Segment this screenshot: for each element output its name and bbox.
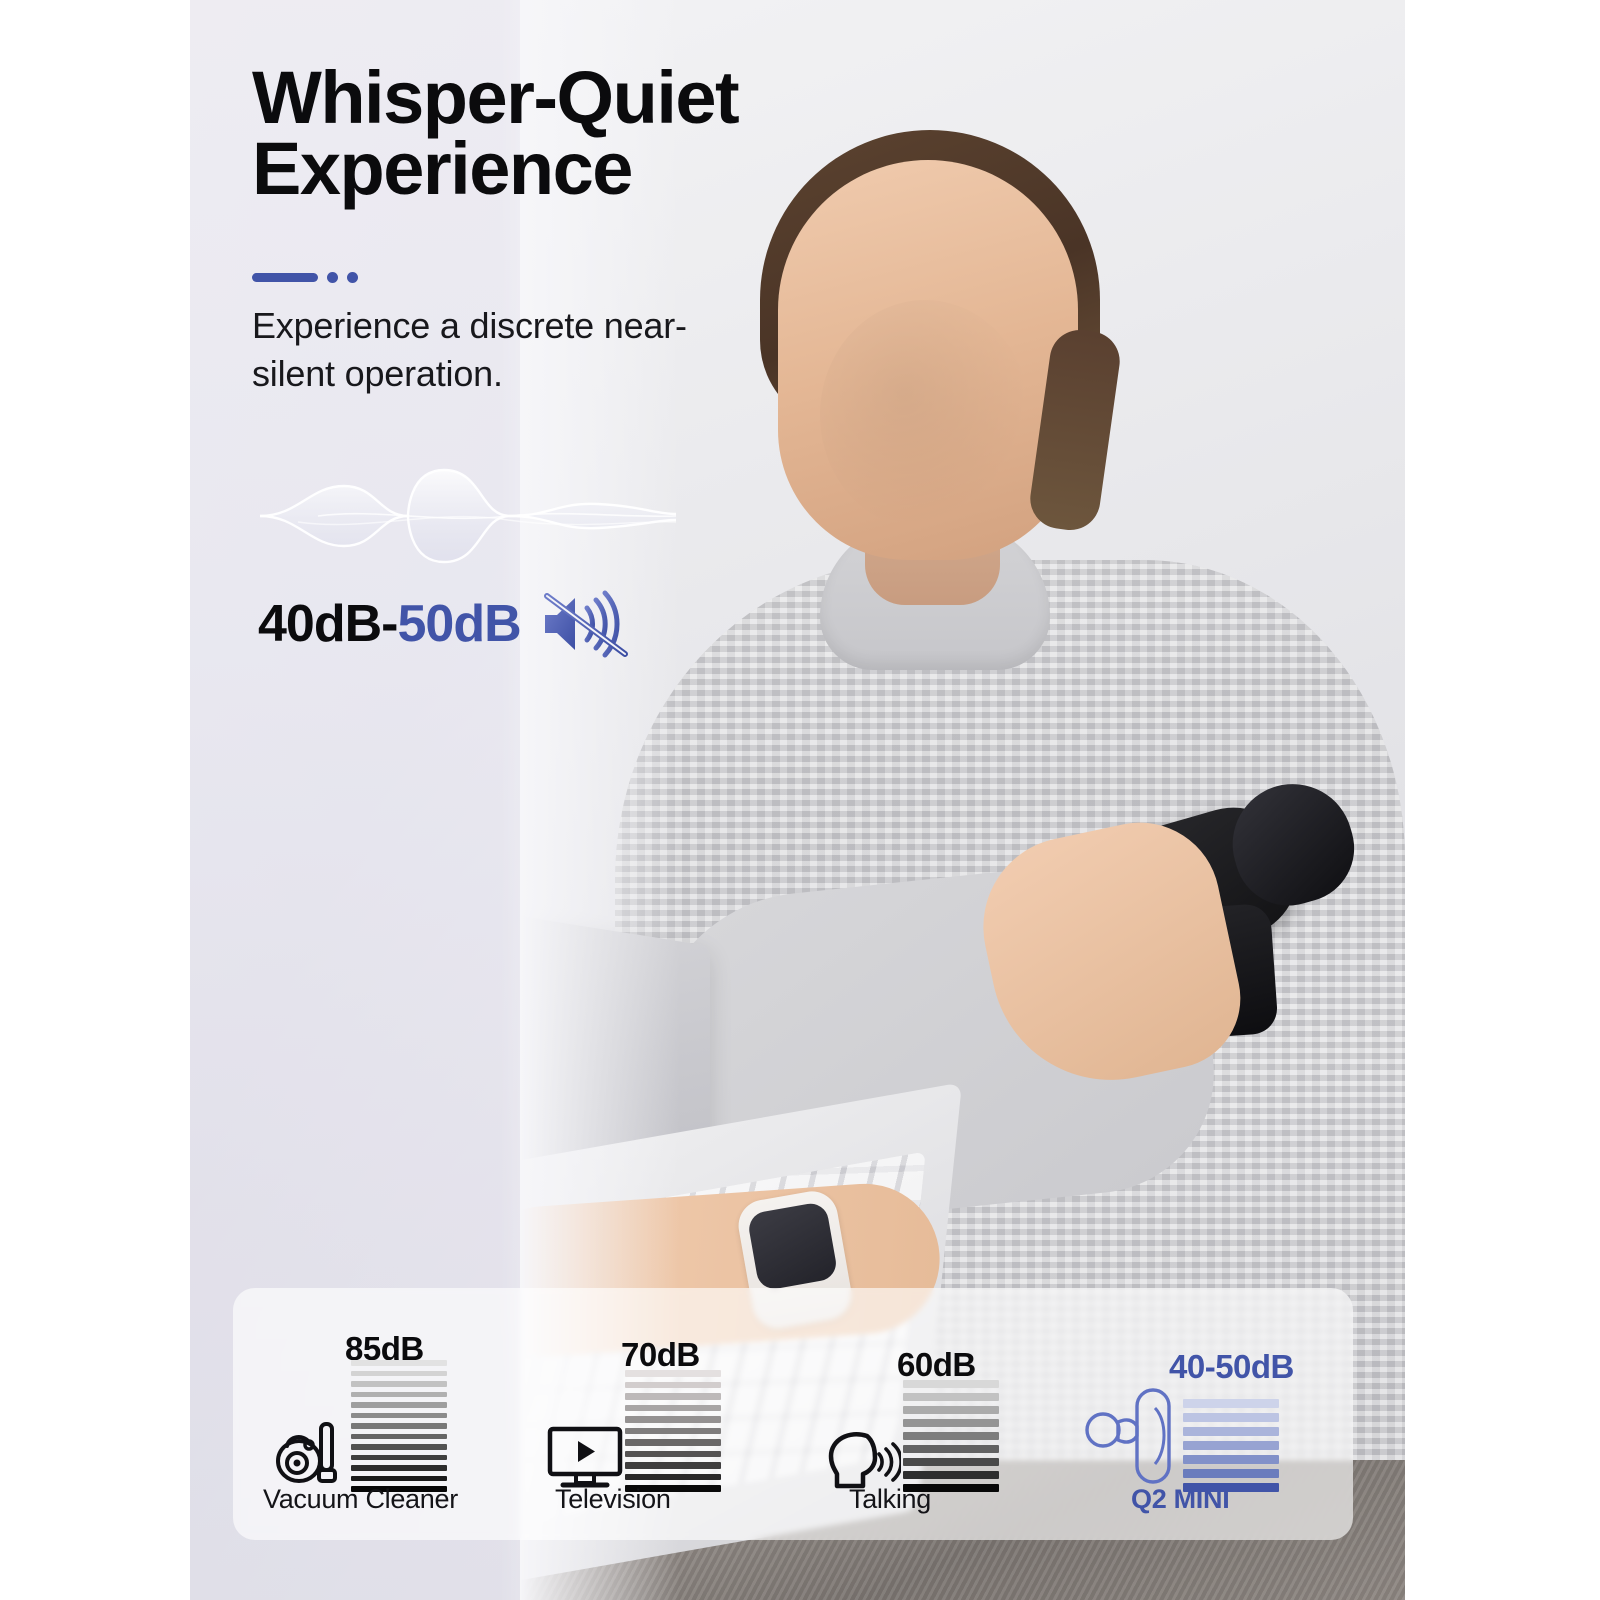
accent-dot-1 xyxy=(327,272,338,283)
accent-bar xyxy=(252,273,318,282)
subheadline: Experience a discrete near-silent operat… xyxy=(252,302,752,397)
comparison-column-television: 70dB xyxy=(513,1288,793,1540)
db-range-dark-text: 40dB- xyxy=(258,595,397,653)
db-range-badge: 40dB-50dB xyxy=(258,588,631,660)
value-label-q2-mini: 40-50dB xyxy=(1169,1348,1294,1386)
category-label-talking: Talking xyxy=(849,1484,931,1515)
vacuum-cleaner-icon xyxy=(275,1416,349,1488)
category-label-q2-mini: Q2 MINI xyxy=(1131,1484,1229,1515)
value-label-talking: 60dB xyxy=(897,1346,976,1384)
headline: Whisper-Quiet Experience xyxy=(252,62,892,204)
comparison-column-vacuum-cleaner: 85dB xyxy=(233,1288,513,1540)
massage-gun-icon xyxy=(1085,1384,1181,1494)
accent-dot-2 xyxy=(347,272,358,283)
comparison-column-talking: 60dB Talking xyxy=(793,1288,1073,1540)
headline-line-2: Experience xyxy=(252,133,892,204)
comparison-column-q2-mini: 40-50dB Q2 MINI xyxy=(1073,1288,1353,1540)
television-icon xyxy=(545,1424,625,1490)
category-label-vacuum-cleaner: Vacuum Cleaner xyxy=(263,1484,458,1515)
face-shading xyxy=(820,300,1030,530)
speaker-mute-icon xyxy=(539,588,631,660)
sound-waveform-graphic xyxy=(258,450,678,580)
smartwatch-face xyxy=(746,1201,838,1292)
category-label-television: Television xyxy=(555,1484,671,1515)
promo-image-root: Whisper-Quiet Experience Experience a di… xyxy=(0,0,1600,1600)
noise-comparison-card: 85dB xyxy=(233,1288,1353,1540)
bar-q2-mini xyxy=(1183,1392,1279,1492)
bar-television xyxy=(625,1370,721,1492)
value-label-television: 70dB xyxy=(621,1336,700,1374)
accent-divider xyxy=(252,272,358,283)
bar-talking xyxy=(903,1380,999,1492)
bar-vacuum-cleaner xyxy=(351,1360,447,1492)
db-range-blue-text: 50dB xyxy=(397,595,520,653)
